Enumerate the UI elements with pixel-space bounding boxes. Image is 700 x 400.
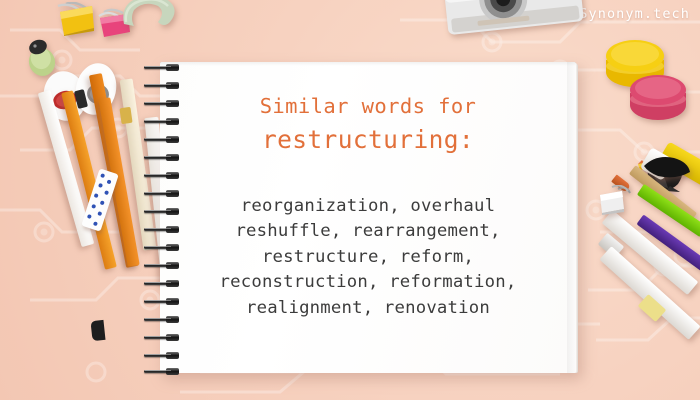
green-washi-tape-icon: [118, 0, 180, 30]
pencil-group: [0, 118, 160, 400]
silver-camera-icon: [440, 0, 590, 40]
black-brush-icon: [640, 150, 692, 180]
synonym-line: reorganization, overhaul: [168, 194, 568, 219]
yellow-binder-clip-icon: [52, 2, 96, 36]
flatlay-scene: Synonym.tech: [0, 0, 700, 400]
synonym-line: restructure, reform,: [168, 245, 568, 270]
page-title-line1: Similar words for: [160, 94, 576, 118]
synonym-line: reshuffle, rearrangement,: [168, 219, 568, 244]
spiral-notepad: Similar words for restructuring: reorgan…: [160, 62, 578, 375]
synonym-line: reconstruction, reformation,: [168, 270, 568, 295]
synonym-line: realignment, renovation: [168, 296, 568, 321]
cream-pen-clip: [119, 107, 132, 124]
page-title-headword: restructuring:: [160, 125, 576, 154]
silver-binder-clip-icon: [598, 185, 632, 215]
notepad-content: Similar words for restructuring: reorgan…: [160, 62, 576, 373]
synonym-list: reorganization, overhaul reshuffle, rear…: [168, 194, 568, 321]
site-watermark: Synonym.tech: [579, 6, 690, 22]
white-rollerball-pen-end: [90, 320, 105, 341]
pink-macaron-icon: [628, 72, 688, 122]
